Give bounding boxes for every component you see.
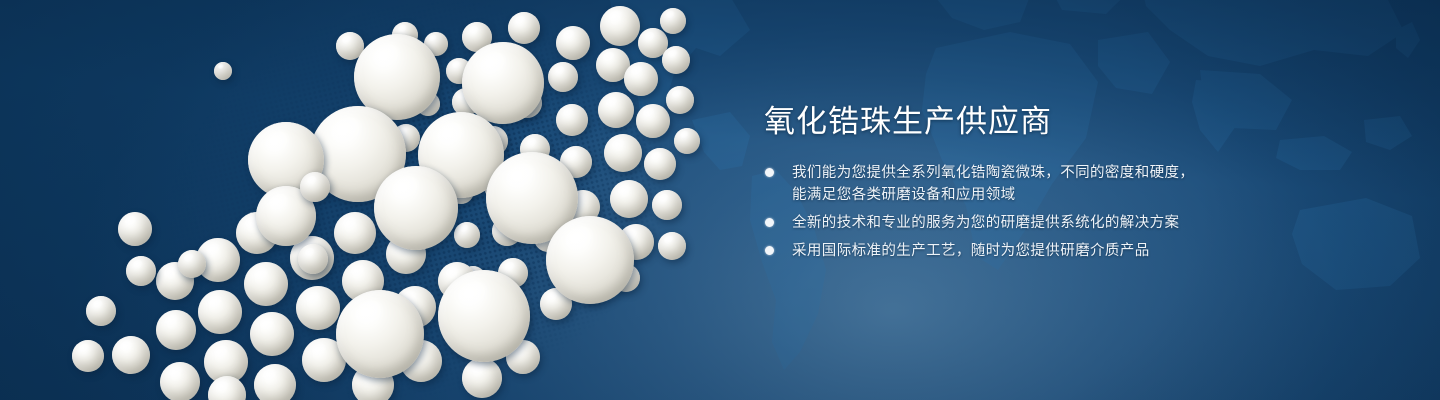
feature-bullet-list: 我们能为您提供全系列氧化锆陶瓷微珠，不同的密度和硬度， 能满足您各类研磨设备和应… <box>764 162 1284 262</box>
list-item: 采用国际标准的生产工艺，随时为您提供研磨介质产品 <box>764 240 1284 262</box>
banner-content: 氧化锆珠生产供应商 我们能为您提供全系列氧化锆陶瓷微珠，不同的密度和硬度， 能满… <box>764 104 1284 268</box>
bullet-line: 我们能为您提供全系列氧化锆陶瓷微珠，不同的密度和硬度， <box>792 162 1284 184</box>
bullet-dot-icon <box>765 246 774 255</box>
list-item: 我们能为您提供全系列氧化锆陶瓷微珠，不同的密度和硬度， 能满足您各类研磨设备和应… <box>764 162 1284 206</box>
bullet-dot-icon <box>765 218 774 227</box>
list-item: 全新的技术和专业的服务为您的研磨提供系统化的解决方案 <box>764 212 1284 234</box>
bullet-line: 全新的技术和专业的服务为您的研磨提供系统化的解决方案 <box>792 212 1284 234</box>
zirconia-beads-image <box>0 0 720 400</box>
bullet-line: 能满足您各类研磨设备和应用领域 <box>792 184 1284 206</box>
bullet-line: 采用国际标准的生产工艺，随时为您提供研磨介质产品 <box>792 240 1284 262</box>
bullet-dot-icon <box>765 168 774 177</box>
hero-banner: 氧化锆珠生产供应商 我们能为您提供全系列氧化锆陶瓷微珠，不同的密度和硬度， 能满… <box>0 0 1440 400</box>
banner-headline: 氧化锆珠生产供应商 <box>764 104 1284 140</box>
